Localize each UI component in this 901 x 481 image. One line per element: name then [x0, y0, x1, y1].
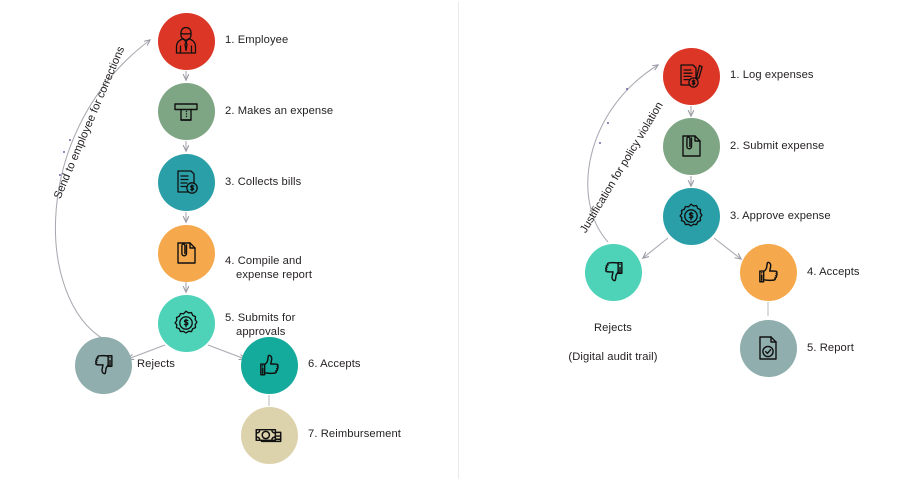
node-report[interactable]	[740, 320, 797, 377]
label-log-expenses: 1. Log expenses	[730, 68, 814, 83]
thumbs-up-icon	[752, 256, 785, 289]
label-right-rejects-line1: Rejects	[594, 322, 632, 334]
thumbs-up-icon	[253, 349, 286, 382]
node-submit-approval[interactable]	[158, 295, 215, 352]
label-report: 5. Report	[807, 341, 854, 356]
label-right-accepts: 4. Accepts	[807, 265, 860, 280]
label-compile-report-line2: expense report	[225, 268, 312, 283]
receipt-slip-icon	[170, 95, 202, 127]
report-check-icon	[752, 332, 784, 364]
label-submit-approval-line1: 5. Submits for	[225, 312, 295, 324]
node-approve-expense[interactable]	[663, 188, 720, 245]
right-loop-dots	[599, 88, 628, 144]
badge-dollar-icon	[170, 307, 202, 339]
node-compile-report[interactable]	[158, 225, 215, 282]
node-employee[interactable]	[158, 13, 215, 70]
node-submit-expense[interactable]	[663, 118, 720, 175]
node-reimbursement[interactable]	[241, 407, 298, 464]
clipboard-doc-icon	[170, 237, 202, 269]
label-employee: 1. Employee	[225, 33, 288, 48]
label-compile-report-line1: 4. Compile and	[225, 255, 302, 267]
label-reimbursement: 7. Reimbursement	[308, 427, 401, 442]
node-right-rejects[interactable]	[585, 244, 642, 301]
thumbs-down-icon	[597, 256, 630, 289]
thumbs-down-icon	[87, 349, 120, 382]
log-document-icon	[675, 60, 707, 92]
node-left-rejects[interactable]	[75, 337, 132, 394]
cash-money-icon	[252, 418, 286, 452]
label-right-rejects-line2: (Digital audit trail)	[568, 351, 657, 363]
node-collects-bills[interactable]	[158, 154, 215, 211]
diagram-canvas: 1. Employee 2. Makes an expense 3. Colle…	[0, 0, 901, 481]
label-collects-bills: 3. Collects bills	[225, 175, 301, 190]
label-right-rejects: Rejects (Digital audit trail)	[543, 306, 683, 364]
badge-dollar-icon	[675, 200, 707, 232]
node-right-accepts[interactable]	[740, 244, 797, 301]
label-left-rejects: Rejects	[137, 357, 175, 372]
label-makes-expense: 2. Makes an expense	[225, 104, 333, 119]
clipboard-doc-icon	[675, 130, 707, 162]
label-compile-report: 4. Compile and expense report	[225, 239, 312, 297]
node-makes-expense[interactable]	[158, 83, 215, 140]
employee-icon	[170, 25, 202, 57]
label-left-accepts: 6. Accepts	[308, 357, 361, 372]
bill-dollar-icon	[170, 166, 202, 198]
node-log-expenses[interactable]	[663, 48, 720, 105]
label-submit-expense: 2. Submit expense	[730, 139, 824, 154]
node-left-accepts[interactable]	[241, 337, 298, 394]
label-approve-expense: 3. Approve expense	[730, 209, 831, 224]
